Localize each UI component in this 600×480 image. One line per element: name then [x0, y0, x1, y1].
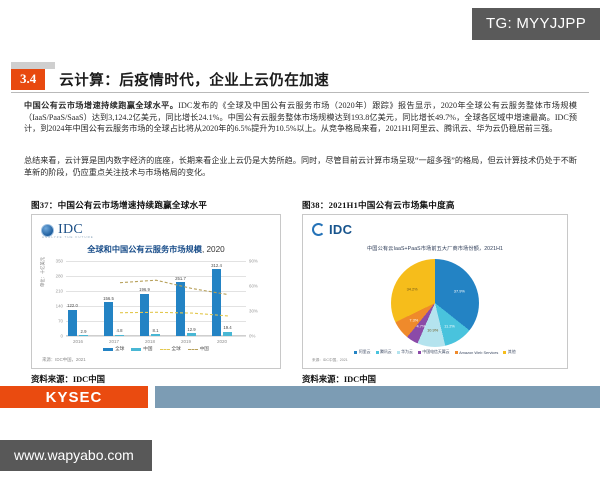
figure-37-caption: 图37：中国公有云市场增速持续跑赢全球水平	[31, 199, 281, 211]
footer-accent-bar	[155, 386, 600, 408]
report-page: TG: MYYJJPP 3.4 云计算：后疫情时代，企业上云仍在加速 中国公有云…	[0, 0, 600, 480]
legend-label: 腾讯云	[380, 349, 392, 355]
x-axis-tick: 2020	[217, 339, 227, 344]
bar-plot-area: 0701402102803500%30%60%90%122.02.9201615…	[66, 261, 246, 336]
pie-chart-legend: 阿里云腾讯云华为云中国电信天翼云Amazon Web Services其他	[303, 349, 567, 355]
y2-axis-tick: 0%	[249, 334, 255, 339]
figure-38-caption: 图38：2021H1中国公有云市场集中度高	[302, 199, 568, 211]
x-axis-tick: 2018	[145, 339, 155, 344]
section-header: 3.4 云计算：后疫情时代，企业上云仍在加速	[11, 69, 329, 90]
legend-item: 华为云	[397, 349, 413, 355]
legend-item: 中国电信天翼云	[418, 349, 450, 355]
legend-swatch	[376, 351, 379, 354]
legend-label: 华为云	[401, 349, 413, 355]
x-axis-tick: 2016	[73, 339, 83, 344]
legend-label: 中国	[200, 346, 209, 352]
figure-38-inner-source: 来源：IDC中国，2021	[312, 358, 348, 363]
legend-label: 全球	[172, 346, 181, 352]
trend-line	[120, 280, 228, 294]
header-divider	[11, 92, 589, 93]
section-title: 云计算：后疫情时代，企业上云仍在加速	[59, 69, 329, 90]
pie-slice-label: 11.2%	[444, 323, 455, 328]
section-number-badge: 3.4	[11, 69, 45, 90]
figure-37-source: 资料来源：IDC中国	[31, 373, 281, 385]
pie-plot-area: 37.9%11.2%10.9%4.7%7.3%34.2%	[391, 259, 479, 347]
brand-name: KYSEC	[46, 389, 103, 406]
chart-title-pie: 中国公有云IaaS+PaaS市场前五大厂商市场份额，2021H1	[303, 245, 567, 252]
chart-title-year: , 2020	[202, 245, 225, 254]
legend-swatch	[354, 351, 357, 354]
y-axis-label: 单位：十亿美元	[40, 257, 46, 287]
legend-item: 全球	[103, 346, 124, 352]
legend-label: 中国电信天翼云	[422, 349, 449, 355]
pie-slice-label: 7.3%	[409, 317, 418, 322]
y2-axis-tick: 30%	[249, 309, 258, 314]
x-axis-tick: 2017	[109, 339, 119, 344]
header-gray-accent	[11, 62, 55, 69]
pie-slice-label: 37.9%	[454, 289, 465, 294]
paragraph-1: 中国公有云市场增速持续跑赢全球水平。IDC发布的《全球及中国公有云服务市场（20…	[24, 100, 577, 135]
chart-title-main: 全球和中国公有云服务市场规模	[87, 245, 202, 254]
figure-38-chart: IDC 中国公有云IaaS+PaaS市场前五大厂商市场份额，2021H1 37.…	[302, 214, 568, 369]
bar-chart-legend: 全球中国全球中国	[32, 346, 280, 352]
trend-line	[120, 312, 228, 316]
y-axis-tick: 210	[56, 289, 63, 294]
figure-38: 图38：2021H1中国公有云市场集中度高 IDC 中国公有云IaaS+PaaS…	[302, 199, 568, 385]
legend-item: 阿里云	[354, 349, 370, 355]
legend-swatch	[503, 351, 506, 354]
legend-label: 阿里云	[359, 349, 371, 355]
paragraph-1-lead: 中国公有云市场增速持续跑赢全球水平。	[24, 101, 178, 110]
pie-circle: 37.9%11.2%10.9%4.7%7.3%34.2%	[391, 259, 479, 347]
figure-38-source: 资料来源：IDC中国	[302, 373, 568, 385]
legend-label: 其他	[508, 349, 516, 355]
trend-lines	[66, 261, 246, 336]
legend-swatch	[160, 349, 170, 350]
idc-wordmark: IDC	[329, 222, 352, 237]
legend-swatch	[397, 351, 400, 354]
watermark-top: TG: MYYJJPP	[472, 8, 600, 40]
y2-axis-tick: 90%	[249, 259, 258, 264]
brand-footer-bar: KYSEC	[0, 386, 148, 408]
idc-tagline: ANALYZE THE FUTURE	[42, 235, 94, 239]
idc-globe-icon	[312, 223, 325, 236]
legend-item: 中国	[131, 346, 152, 352]
legend-item: 其他	[503, 349, 515, 355]
y-axis-tick: 0	[61, 334, 63, 339]
figure-37: 图37：中国公有云市场增速持续跑赢全球水平 IDC ANALYZE THE FU…	[31, 199, 281, 385]
y-axis-tick: 70	[58, 319, 63, 324]
legend-item: 中国	[188, 346, 209, 352]
legend-item: 腾讯云	[376, 349, 392, 355]
y-axis-tick: 280	[56, 274, 63, 279]
legend-item: 全球	[160, 346, 181, 352]
legend-item: Amazon Web Services	[455, 350, 499, 355]
chart-title-bar: 全球和中国公有云服务市场规模, 2020	[32, 243, 280, 255]
y-axis-tick: 350	[56, 259, 63, 264]
idc-logo: IDC	[312, 222, 352, 237]
legend-swatch	[455, 351, 458, 354]
figure-37-inner-source: 来源：IDC中国，2021	[42, 357, 86, 363]
pie-slice-label: 10.9%	[427, 327, 438, 332]
watermark-bottom: www.wapyabo.com	[0, 440, 152, 471]
grid-line	[66, 336, 246, 337]
legend-label: 全球	[115, 346, 124, 352]
legend-swatch	[131, 348, 141, 351]
legend-label: Amazon Web Services	[459, 350, 498, 355]
y-axis-tick: 140	[56, 304, 63, 309]
figure-37-chart: IDC ANALYZE THE FUTURE 全球和中国公有云服务市场规模, 2…	[31, 214, 281, 369]
paragraph-2: 总结来看，云计算是国内数字经济的底座，长期来看企业上云仍是大势所趋。同时，尽管目…	[24, 155, 577, 178]
legend-swatch	[418, 351, 421, 354]
legend-swatch	[188, 349, 198, 350]
y2-axis-tick: 60%	[249, 284, 258, 289]
legend-label: 中国	[143, 346, 152, 352]
legend-swatch	[103, 348, 113, 351]
pie-slice-label: 4.7%	[417, 324, 426, 329]
x-axis-tick: 2019	[181, 339, 191, 344]
pie-slice-label: 34.2%	[407, 286, 418, 291]
